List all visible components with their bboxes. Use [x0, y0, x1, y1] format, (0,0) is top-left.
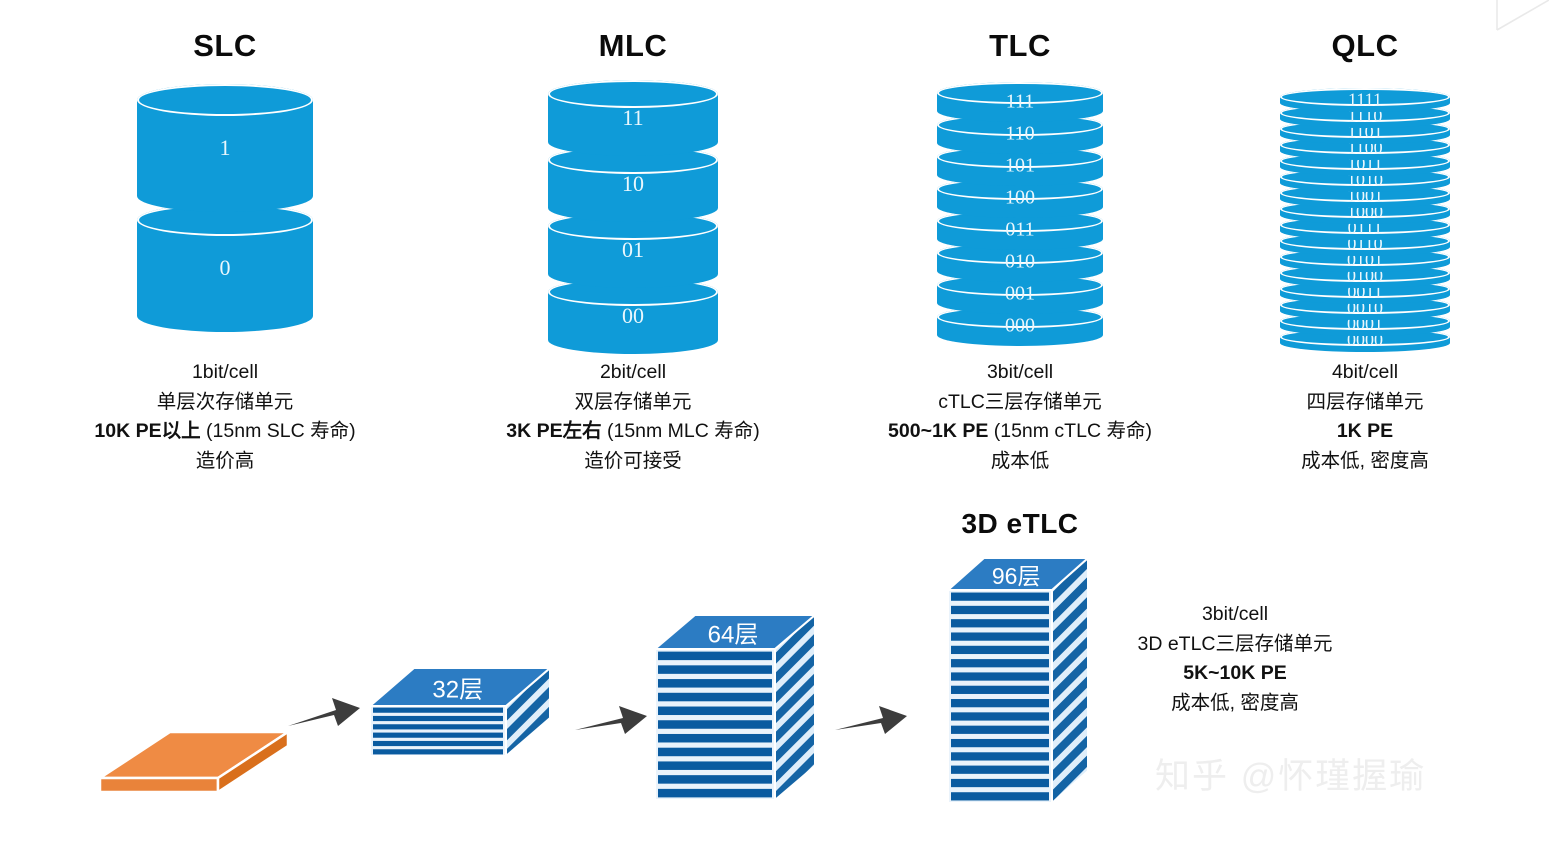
stack-layer-bar	[658, 707, 772, 716]
stack-layer-bar	[951, 606, 1049, 614]
stack-front-face	[370, 706, 506, 756]
desc-pe-qlc: 1K PE	[1200, 417, 1530, 447]
desc-pe-rest-tlc: (15nm cTLC 寿命)	[988, 420, 1152, 442]
cell-column-slc: SLC 10 1bit/cell 单层次存储单元 10K PE以上 (15nm …	[60, 0, 390, 476]
cell-band-rim	[937, 82, 1103, 104]
stack-layer-bar	[373, 741, 503, 746]
stack-label-32: 32层	[394, 670, 521, 705]
stack-block-96: 96层	[948, 558, 1088, 803]
cell-level-label: 0	[137, 255, 313, 281]
stack-layer-bar	[373, 724, 503, 729]
stack-layer-bar	[951, 752, 1049, 760]
cell-level-band: 11	[548, 80, 718, 156]
desc-cellname-slc: 单层次存储单元	[60, 388, 390, 418]
desc-pe-slc: 10K PE以上 (15nm SLC 寿命)	[60, 417, 390, 447]
stack-layer-bar	[373, 749, 503, 754]
desc-pe-bold-slc: 10K PE以上	[94, 420, 200, 442]
cell-level-label: 01	[548, 237, 718, 263]
cell-column-qlc: QLC 111111101101110010111010100110000111…	[1200, 0, 1530, 476]
cell-level-band: 1111	[1280, 88, 1450, 112]
cylinder-slc: 10	[60, 66, 390, 356]
stack-layer-bar	[951, 712, 1049, 720]
stack-layer-bar	[951, 619, 1049, 627]
cell-desc-qlc: 4bit/cell 四层存储单元 1K PE 成本低, 密度高	[1200, 358, 1530, 476]
desc-cellname-mlc: 双层存储单元	[468, 388, 798, 418]
desc-pe-bold-tlc: 500~1K PE	[888, 420, 988, 442]
cell-level-band: 111	[937, 82, 1103, 122]
cell-column-tlc: TLC 111110101100011010001000 3bit/cell c…	[855, 0, 1185, 476]
desc-cost-tlc: 成本低	[855, 447, 1185, 477]
etlc-desc-cost: 成本低, 密度高	[1085, 689, 1385, 719]
evolution-title: 3D eTLC	[875, 508, 1165, 540]
watermark: 知乎 @怀瑾握瑜	[1155, 748, 1426, 799]
cell-column-mlc: MLC 11100100 2bit/cell 双层存储单元 3K PE左右 (1…	[468, 0, 798, 476]
stack-layer-bar	[658, 734, 772, 743]
desc-cost-slc: 造价高	[60, 447, 390, 477]
desc-cost-mlc: 造价可接受	[468, 447, 798, 477]
desc-cellname-qlc: 四层存储单元	[1200, 388, 1530, 418]
stack-layer-bar	[951, 632, 1049, 640]
wafer-2d-planar	[92, 718, 292, 798]
cell-title-qlc: QLC	[1200, 26, 1530, 66]
stack-layer-bar	[951, 766, 1049, 774]
desc-pe-bold-qlc: 1K PE	[1337, 420, 1393, 442]
desc-pe-tlc: 500~1K PE (15nm cTLC 寿命)	[855, 417, 1185, 447]
cell-level-band: 01	[548, 212, 718, 288]
cylinder-tlc: 111110101100011010001000	[855, 66, 1185, 356]
stack-layer-bar	[951, 659, 1049, 667]
stack-block-64: 64层	[655, 615, 815, 800]
desc-bits-slc: 1bit/cell	[60, 358, 390, 388]
desc-cellname-tlc: cTLC三层存储单元	[855, 388, 1185, 418]
stack-layer-bar	[951, 779, 1049, 787]
cell-level-label: 11	[548, 105, 718, 131]
stack-layer-bar	[658, 665, 772, 674]
stack-layer-bar	[951, 646, 1049, 654]
desc-bits-tlc: 3bit/cell	[855, 358, 1185, 388]
cell-desc-slc: 1bit/cell 单层次存储单元 10K PE以上 (15nm SLC 寿命)…	[60, 358, 390, 476]
cell-band-rim	[137, 84, 313, 116]
cell-title-mlc: MLC	[468, 26, 798, 66]
desc-pe-rest-mlc: (15nm MLC 寿命)	[602, 420, 760, 442]
cell-title-tlc: TLC	[855, 26, 1185, 66]
desc-bits-mlc: 2bit/cell	[468, 358, 798, 388]
arrow-right-2	[573, 700, 649, 746]
stack-layer-bar	[373, 708, 503, 713]
desc-bits-qlc: 4bit/cell	[1200, 358, 1530, 388]
cell-desc-tlc: 3bit/cell cTLC三层存储单元 500~1K PE (15nm cTL…	[855, 358, 1185, 476]
diagram-canvas: SLC 10 1bit/cell 单层次存储单元 10K PE以上 (15nm …	[0, 0, 1549, 842]
etlc-desc-pe: 5K~10K PE	[1085, 659, 1385, 689]
stack-layer-bar	[658, 652, 772, 661]
stack-block-32: 32层	[370, 668, 550, 756]
stack-layer-bar	[658, 775, 772, 784]
stack-layer-bar	[658, 693, 772, 702]
cell-level-label: 00	[548, 303, 718, 329]
stack-geometry	[948, 558, 1088, 803]
stack-label-64: 64层	[677, 615, 789, 650]
stack-layer-bar	[658, 789, 772, 798]
stack-layer-bar	[951, 699, 1049, 707]
arrow-right-1	[286, 692, 362, 738]
cell-level-label: 1	[137, 135, 313, 161]
cell-level-label: 10	[548, 171, 718, 197]
cell-band-rim	[1280, 88, 1450, 106]
stack-layer-bar	[951, 593, 1049, 601]
cell-desc-mlc: 2bit/cell 双层存储单元 3K PE左右 (15nm MLC 寿命) 造…	[468, 358, 798, 476]
stack-layer-bar	[373, 733, 503, 738]
stack-layer-bar	[373, 716, 503, 721]
evolution-desc: 3bit/cell 3D eTLC三层存储单元 5K~10K PE 成本低, 密…	[1085, 600, 1385, 718]
stack-layer-bar	[951, 726, 1049, 734]
cell-level-band: 10	[548, 146, 718, 222]
stack-layer-bar	[951, 792, 1049, 800]
arrow-right-3	[833, 700, 909, 746]
cell-title-slc: SLC	[60, 26, 390, 66]
desc-cost-qlc: 成本低, 密度高	[1200, 447, 1530, 477]
stack-layer-bar	[658, 761, 772, 770]
stack-layer-bar	[951, 739, 1049, 747]
cell-level-band: 00	[548, 278, 718, 354]
etlc-desc-cellname: 3D eTLC三层存储单元	[1085, 630, 1385, 660]
cylinder-qlc: 1111111011011100101110101001100001110110…	[1200, 66, 1530, 356]
cell-level-band: 0	[137, 204, 313, 332]
stack-top-face-96: 96层	[968, 558, 1065, 590]
stack-top-face-32: 32层	[394, 668, 521, 706]
stack-layer-bar	[951, 672, 1049, 680]
stack-side-face	[1052, 558, 1088, 803]
stack-layer-bar	[658, 748, 772, 757]
stack-layer-bar	[658, 679, 772, 688]
cell-band-rim	[548, 80, 718, 108]
stack-layer-bar	[658, 720, 772, 729]
stack-label-96: 96层	[968, 557, 1065, 591]
cell-level-band: 1	[137, 84, 313, 212]
stack-top-face-64: 64层	[677, 615, 789, 649]
stack-layer-bar	[951, 686, 1049, 694]
desc-pe-bold-mlc: 3K PE左右	[506, 420, 601, 442]
etlc-desc-bits: 3bit/cell	[1085, 600, 1385, 630]
cylinder-mlc: 11100100	[468, 66, 798, 356]
desc-pe-mlc: 3K PE左右 (15nm MLC 寿命)	[468, 417, 798, 447]
desc-pe-rest-slc: (15nm SLC 寿命)	[201, 420, 356, 442]
